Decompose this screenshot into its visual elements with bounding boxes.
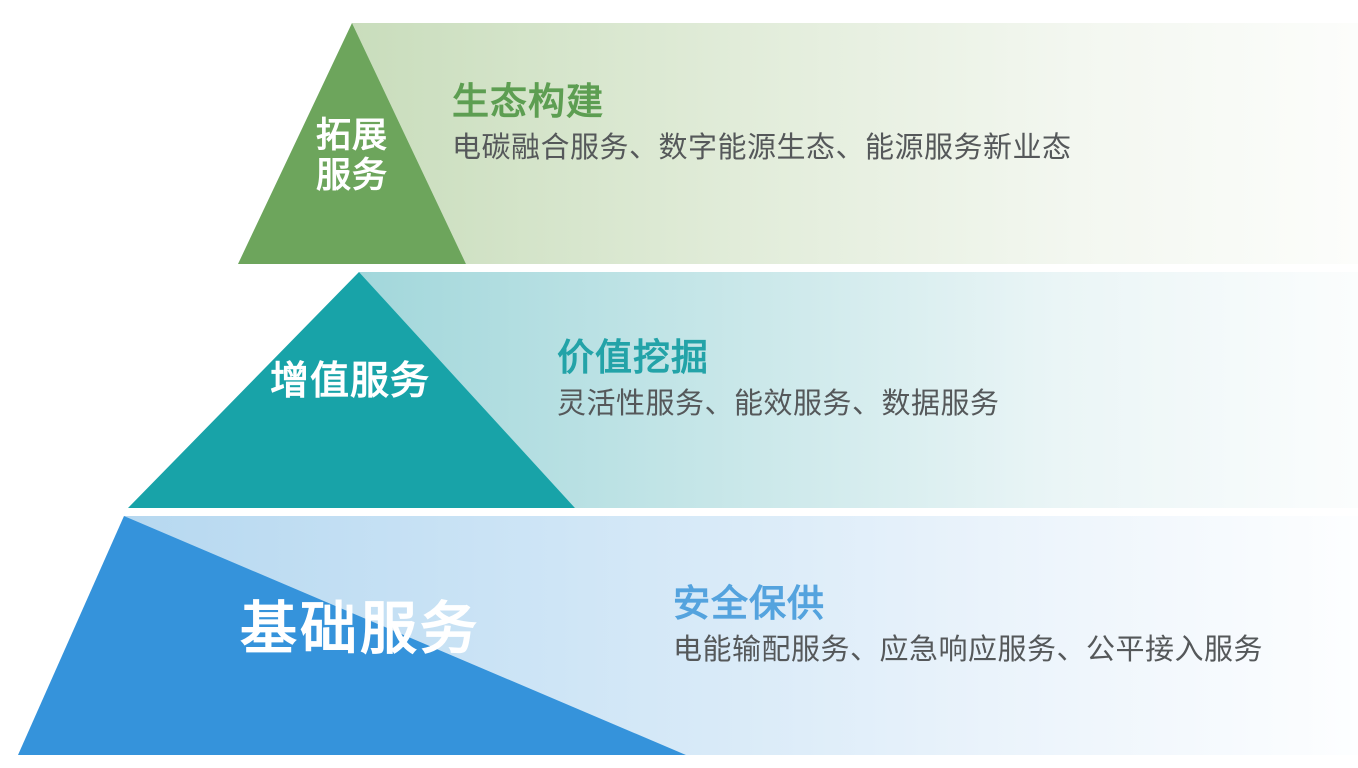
- pyramid-tier-bottom: [18, 516, 1358, 755]
- pyramid-diagram: 拓展 服务 增值服务 基础服务 生态构建 电碳融合服务、数字能源生态、能源服务新…: [0, 0, 1358, 768]
- pyramid-tier-middle: [128, 272, 1358, 508]
- tier-top-band: [352, 23, 1358, 264]
- pyramid-tier-top: [238, 23, 1358, 264]
- pyramid-shapes: [0, 0, 1358, 768]
